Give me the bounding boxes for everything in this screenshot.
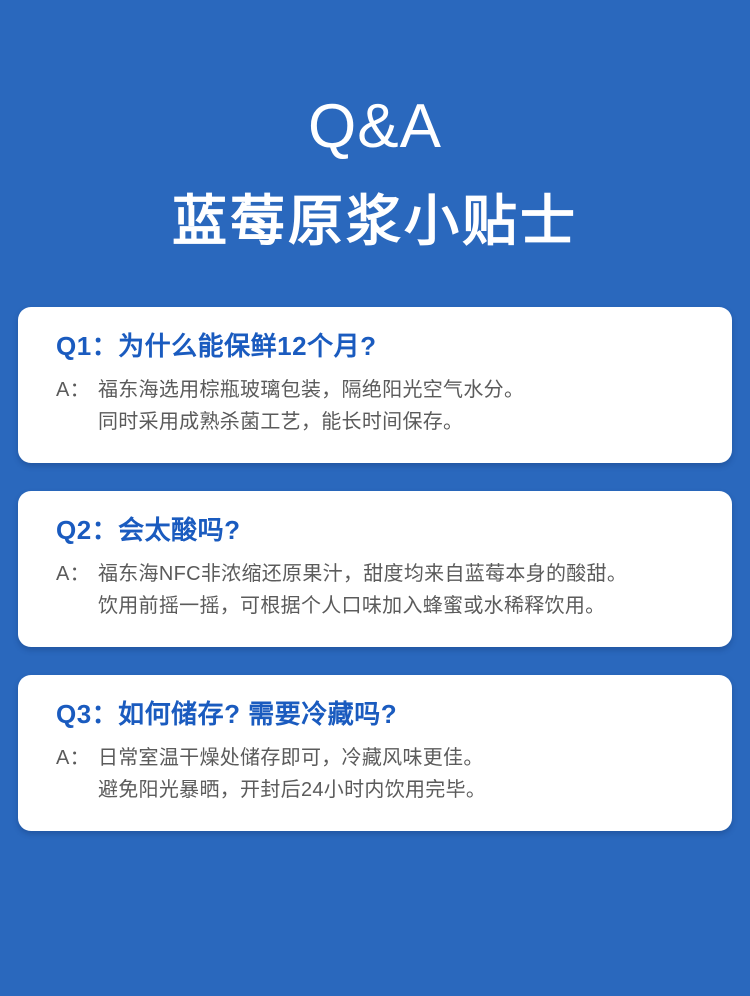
faq-question: Q1：为什么能保鲜12个月? (56, 329, 694, 364)
faq-answer: A： 福东海选用棕瓶玻璃包装，隔绝阳光空气水分。 同时采用成熟杀菌工艺，能长时间… (56, 374, 694, 439)
qa-page: Q&A 蓝莓原浆小贴士 Q1：为什么能保鲜12个月? A： 福东海选用棕瓶玻璃包… (0, 0, 750, 996)
faq-answer-label: A： (56, 742, 98, 774)
faq-answer-line: 日常室温干燥处储存即可，冷藏风味更佳。 (98, 742, 694, 774)
faq-card-list: Q1：为什么能保鲜12个月? A： 福东海选用棕瓶玻璃包装，隔绝阳光空气水分。 … (0, 307, 750, 831)
faq-answer-body: 日常室温干燥处储存即可，冷藏风味更佳。 避免阳光暴晒，开封后24小时内饮用完毕。 (98, 742, 694, 807)
bottom-spacer (0, 831, 750, 996)
page-title-cn: 蓝莓原浆小贴士 (0, 194, 750, 249)
faq-answer-body: 福东海选用棕瓶玻璃包装，隔绝阳光空气水分。 同时采用成熟杀菌工艺，能长时间保存。 (98, 374, 694, 439)
faq-answer-body: 福东海NFC非浓缩还原果汁，甜度均来自蓝莓本身的酸甜。 饮用前摇一摇，可根据个人… (98, 558, 694, 623)
faq-question: Q2：会太酸吗? (56, 513, 694, 548)
faq-question: Q3：如何储存? 需要冷藏吗? (56, 697, 694, 732)
faq-answer-line: 同时采用成熟杀菌工艺，能长时间保存。 (98, 406, 694, 438)
faq-card: Q3：如何储存? 需要冷藏吗? A： 日常室温干燥处储存即可，冷藏风味更佳。 避… (18, 675, 732, 831)
faq-answer: A： 日常室温干燥处储存即可，冷藏风味更佳。 避免阳光暴晒，开封后24小时内饮用… (56, 742, 694, 807)
page-header: Q&A 蓝莓原浆小贴士 (0, 0, 750, 249)
faq-answer: A： 福东海NFC非浓缩还原果汁，甜度均来自蓝莓本身的酸甜。 饮用前摇一摇，可根… (56, 558, 694, 623)
faq-answer-label: A： (56, 558, 98, 590)
faq-answer-line: 福东海选用棕瓶玻璃包装，隔绝阳光空气水分。 (98, 374, 694, 406)
faq-card: Q2：会太酸吗? A： 福东海NFC非浓缩还原果汁，甜度均来自蓝莓本身的酸甜。 … (18, 491, 732, 647)
faq-answer-line: 避免阳光暴晒，开封后24小时内饮用完毕。 (98, 774, 694, 806)
faq-answer-line: 福东海NFC非浓缩还原果汁，甜度均来自蓝莓本身的酸甜。 (98, 558, 694, 590)
faq-answer-label: A： (56, 374, 98, 406)
faq-card: Q1：为什么能保鲜12个月? A： 福东海选用棕瓶玻璃包装，隔绝阳光空气水分。 … (18, 307, 732, 463)
faq-answer-line: 饮用前摇一摇，可根据个人口味加入蜂蜜或水稀释饮用。 (98, 590, 694, 622)
page-title-en: Q&A (0, 96, 750, 158)
